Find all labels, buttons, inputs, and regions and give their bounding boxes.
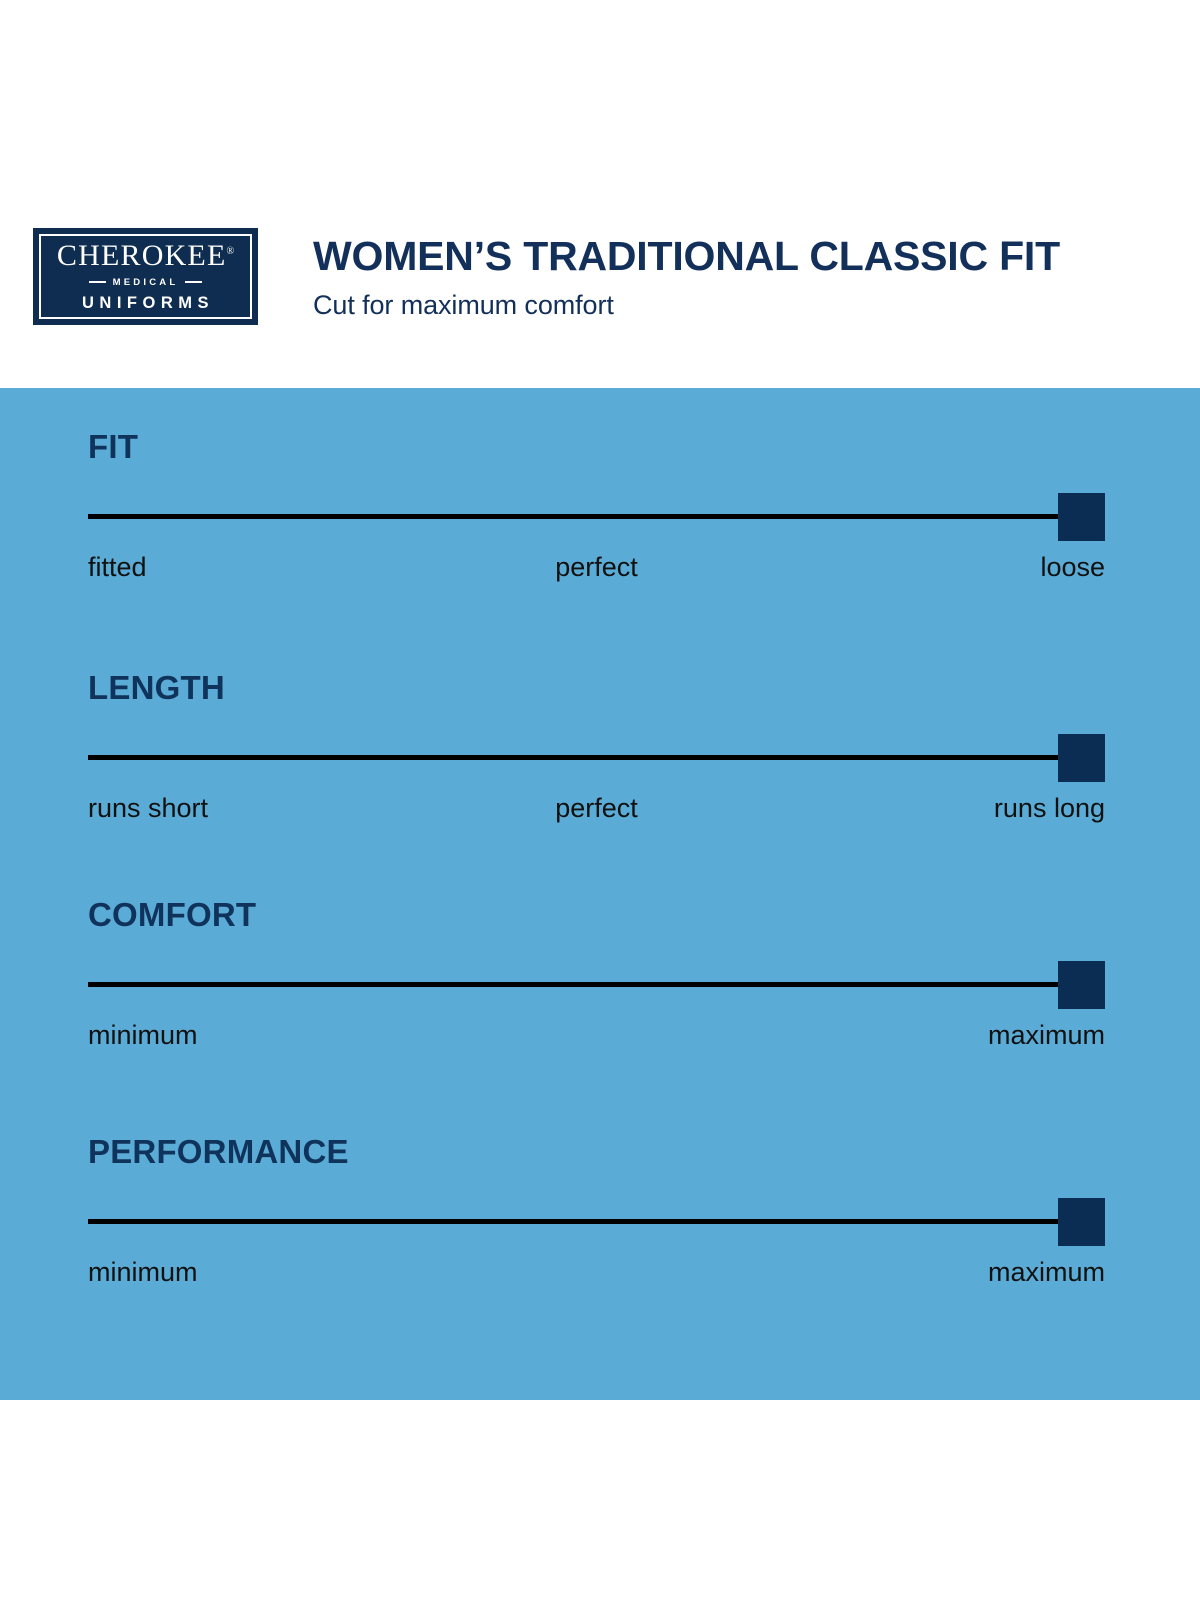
- scale-fit: FIT fitted perfect loose: [88, 430, 1105, 587]
- scale-label-left-length: runs short: [88, 792, 208, 824]
- scale-title-performance: PERFORMANCE: [88, 1135, 1105, 1168]
- scale-title-fit: FIT: [88, 430, 1105, 463]
- slider-thumb-fit[interactable]: [1058, 493, 1105, 541]
- track-line: [88, 982, 1105, 987]
- logo-rule-right-icon: [185, 281, 202, 283]
- title-block: WOMEN’S TRADITIONAL CLASSIC FIT Cut for …: [313, 235, 1060, 321]
- scale-length: LENGTH runs short perfect runs long: [88, 671, 1105, 828]
- logo-uniforms-text: UNIFORMS: [77, 294, 214, 313]
- scale-labels-performance: minimum maximum: [88, 1256, 1105, 1292]
- logo-medical-text: MEDICAL: [113, 277, 179, 288]
- scale-label-right-length: runs long: [994, 792, 1105, 824]
- scale-title-length: LENGTH: [88, 671, 1105, 704]
- slider-track-performance[interactable]: [88, 1198, 1105, 1246]
- logo-medical-line: MEDICAL: [89, 277, 203, 288]
- scale-label-left-fit: fitted: [88, 551, 147, 583]
- scale-title-comfort: COMFORT: [88, 898, 1105, 931]
- slider-thumb-comfort[interactable]: [1058, 961, 1105, 1009]
- header: CHEROKEE® MEDICAL UNIFORMS WOMEN’S TRADI…: [0, 0, 1200, 388]
- scale-label-right-fit: loose: [1040, 551, 1105, 583]
- logo-rule-left-icon: [89, 281, 106, 283]
- registered-trademark-icon: ®: [226, 246, 234, 257]
- logo-brand-name: CHEROKEE®: [57, 241, 234, 271]
- track-line: [88, 755, 1105, 760]
- slider-track-comfort[interactable]: [88, 961, 1105, 1009]
- scale-labels-comfort: minimum maximum: [88, 1019, 1105, 1055]
- scale-label-right-comfort: maximum: [988, 1019, 1105, 1051]
- scale-labels-fit: fitted perfect loose: [88, 551, 1105, 587]
- cherokee-medical-uniforms-logo: CHEROKEE® MEDICAL UNIFORMS: [33, 228, 258, 325]
- slider-thumb-performance[interactable]: [1058, 1198, 1105, 1246]
- scale-label-left-comfort: minimum: [88, 1019, 198, 1051]
- scale-performance: PERFORMANCE minimum maximum: [88, 1135, 1105, 1292]
- scale-label-mid-fit: perfect: [555, 551, 638, 583]
- fit-guide-page: CHEROKEE® MEDICAL UNIFORMS WOMEN’S TRADI…: [0, 0, 1200, 1600]
- scale-label-left-performance: minimum: [88, 1256, 198, 1288]
- scale-label-mid-length: perfect: [555, 792, 638, 824]
- fit-scales-panel: FIT fitted perfect loose LENGTH runs sho…: [0, 388, 1200, 1400]
- scale-label-right-performance: maximum: [988, 1256, 1105, 1288]
- track-line: [88, 1219, 1105, 1224]
- slider-thumb-length[interactable]: [1058, 734, 1105, 782]
- track-line: [88, 514, 1105, 519]
- logo-inner-frame: CHEROKEE® MEDICAL UNIFORMS: [39, 234, 252, 319]
- scale-labels-length: runs short perfect runs long: [88, 792, 1105, 828]
- page-title: WOMEN’S TRADITIONAL CLASSIC FIT: [313, 235, 1060, 278]
- scale-comfort: COMFORT minimum maximum: [88, 898, 1105, 1055]
- logo-brand-text: CHEROKEE: [57, 239, 227, 272]
- page-subtitle: Cut for maximum comfort: [313, 290, 1060, 321]
- slider-track-length[interactable]: [88, 734, 1105, 782]
- slider-track-fit[interactable]: [88, 493, 1105, 541]
